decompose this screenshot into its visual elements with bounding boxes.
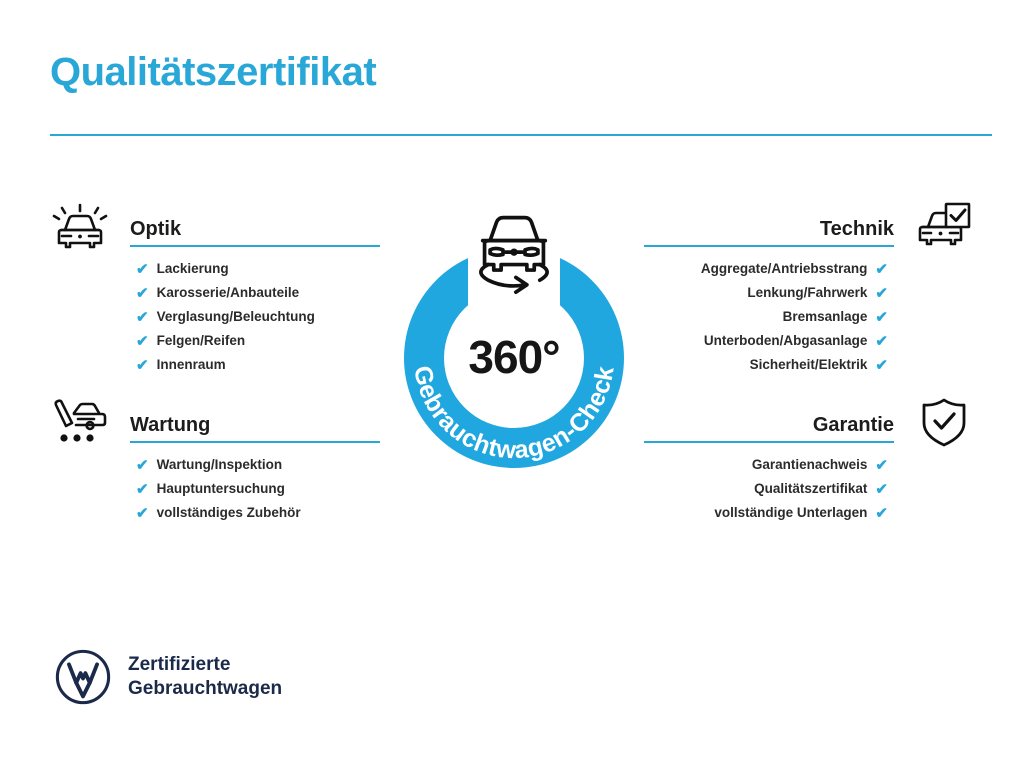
section-garantie-list: ✔ Garantienachweis ✔ Qualitätszertifikat…	[644, 453, 974, 525]
list-item-label: Bremsanlage	[783, 305, 868, 329]
check-icon: ✔	[136, 358, 149, 373]
vw-footer-line1: Zertifizierte	[128, 653, 282, 677]
vw-footer: Zertifizierte Gebrauchtwagen	[54, 648, 282, 706]
list-item: ✔ Verglasung/Beleuchtung	[50, 305, 380, 329]
section-technik-underline	[644, 245, 894, 247]
list-item-label: vollständiges Zubehör	[157, 501, 301, 525]
title-divider	[50, 134, 992, 136]
list-item: ✔ Sicherheit/Elektrik	[644, 353, 974, 377]
list-item: ✔ Unterboden/Abgasanlage	[644, 329, 974, 353]
certificate-page: Qualitätszertifikat Optik ✔ Lackierung	[0, 0, 1024, 768]
car-checkbox-icon	[914, 199, 974, 255]
section-technik-title: Technik	[820, 219, 894, 239]
vw-logo-icon	[54, 648, 112, 706]
list-item: ✔ vollständiges Zubehör	[50, 501, 380, 525]
badge-360-gebrauchtwagen-check: Gebrauchtwagen-Check 360°	[372, 188, 656, 488]
check-icon: ✔	[136, 482, 149, 497]
check-icon: ✔	[875, 286, 888, 301]
list-item: ✔ Wartung/Inspektion	[50, 453, 380, 477]
page-title: Qualitätszertifikat	[50, 50, 376, 94]
check-icon: ✔	[875, 358, 888, 373]
list-item: ✔ Lenkung/Fahrwerk	[644, 281, 974, 305]
section-garantie-header: Garantie	[644, 399, 974, 451]
shield-check-icon	[914, 395, 974, 451]
list-item: ✔ Felgen/Reifen	[50, 329, 380, 353]
list-item-label: Felgen/Reifen	[157, 329, 246, 353]
list-item-label: vollständige Unterlagen	[714, 501, 867, 525]
list-item-label: Lenkung/Fahrwerk	[747, 281, 867, 305]
list-item-label: Aggregate/Antriebsstrang	[701, 257, 868, 281]
check-icon: ✔	[136, 334, 149, 349]
check-icon: ✔	[136, 286, 149, 301]
list-item: ✔ vollständige Unterlagen	[644, 501, 974, 525]
check-icon: ✔	[875, 482, 888, 497]
section-garantie-title: Garantie	[813, 415, 894, 435]
check-icon: ✔	[136, 506, 149, 521]
section-wartung-title: Wartung	[130, 415, 210, 435]
list-item: ✔ Qualitätszertifikat	[644, 477, 974, 501]
list-item: ✔ Aggregate/Antriebsstrang	[644, 257, 974, 281]
vw-footer-text: Zertifizierte Gebrauchtwagen	[128, 653, 282, 701]
list-item-label: Karosserie/Anbauteile	[157, 281, 300, 305]
vw-footer-line2: Gebrauchtwagen	[128, 677, 282, 701]
list-item-label: Qualitätszertifikat	[754, 477, 867, 501]
section-garantie: Garantie ✔ Garantienachweis ✔ Qualitätsz…	[644, 399, 974, 525]
list-item-label: Unterboden/Abgasanlage	[704, 329, 868, 353]
section-wartung: Wartung ✔ Wartung/Inspektion ✔ Hauptunte…	[50, 399, 380, 525]
section-optik-title: Optik	[130, 219, 181, 239]
car-service-tool-icon	[50, 395, 110, 451]
check-icon: ✔	[136, 458, 149, 473]
section-optik: Optik ✔ Lackierung ✔ Karosserie/Anbautei…	[50, 203, 380, 377]
section-optik-header: Optik	[50, 203, 380, 255]
check-icon: ✔	[875, 334, 888, 349]
list-item-label: Lackierung	[157, 257, 229, 281]
list-item: ✔ Garantienachweis	[644, 453, 974, 477]
section-garantie-underline	[644, 441, 894, 443]
section-wartung-underline	[130, 441, 380, 443]
list-item: ✔ Lackierung	[50, 257, 380, 281]
list-item: ✔ Bremsanlage	[644, 305, 974, 329]
section-technik: Technik ✔ Aggregate/Antriebsstrang ✔ Len…	[644, 203, 974, 377]
list-item-label: Hauptuntersuchung	[157, 477, 285, 501]
section-technik-list: ✔ Aggregate/Antriebsstrang ✔ Lenkung/Fah…	[644, 257, 974, 377]
list-item-label: Garantienachweis	[752, 453, 868, 477]
list-item: ✔ Hauptuntersuchung	[50, 477, 380, 501]
list-item: ✔ Karosserie/Anbauteile	[50, 281, 380, 305]
check-icon: ✔	[875, 458, 888, 473]
section-optik-list: ✔ Lackierung ✔ Karosserie/Anbauteile ✔ V…	[50, 257, 380, 377]
check-icon: ✔	[875, 310, 888, 325]
list-item-label: Verglasung/Beleuchtung	[157, 305, 315, 329]
section-wartung-list: ✔ Wartung/Inspektion ✔ Hauptuntersuchung…	[50, 453, 380, 525]
section-technik-header: Technik	[644, 203, 974, 255]
list-item-label: Wartung/Inspektion	[157, 453, 283, 477]
list-item: ✔ Innenraum	[50, 353, 380, 377]
check-icon: ✔	[136, 310, 149, 325]
section-wartung-header: Wartung	[50, 399, 380, 451]
list-item-label: Sicherheit/Elektrik	[750, 353, 868, 377]
list-item-label: Innenraum	[157, 353, 226, 377]
car-shine-icon	[50, 199, 110, 255]
section-optik-underline	[130, 245, 380, 247]
check-icon: ✔	[875, 506, 888, 521]
check-icon: ✔	[875, 262, 888, 277]
check-icon: ✔	[136, 262, 149, 277]
